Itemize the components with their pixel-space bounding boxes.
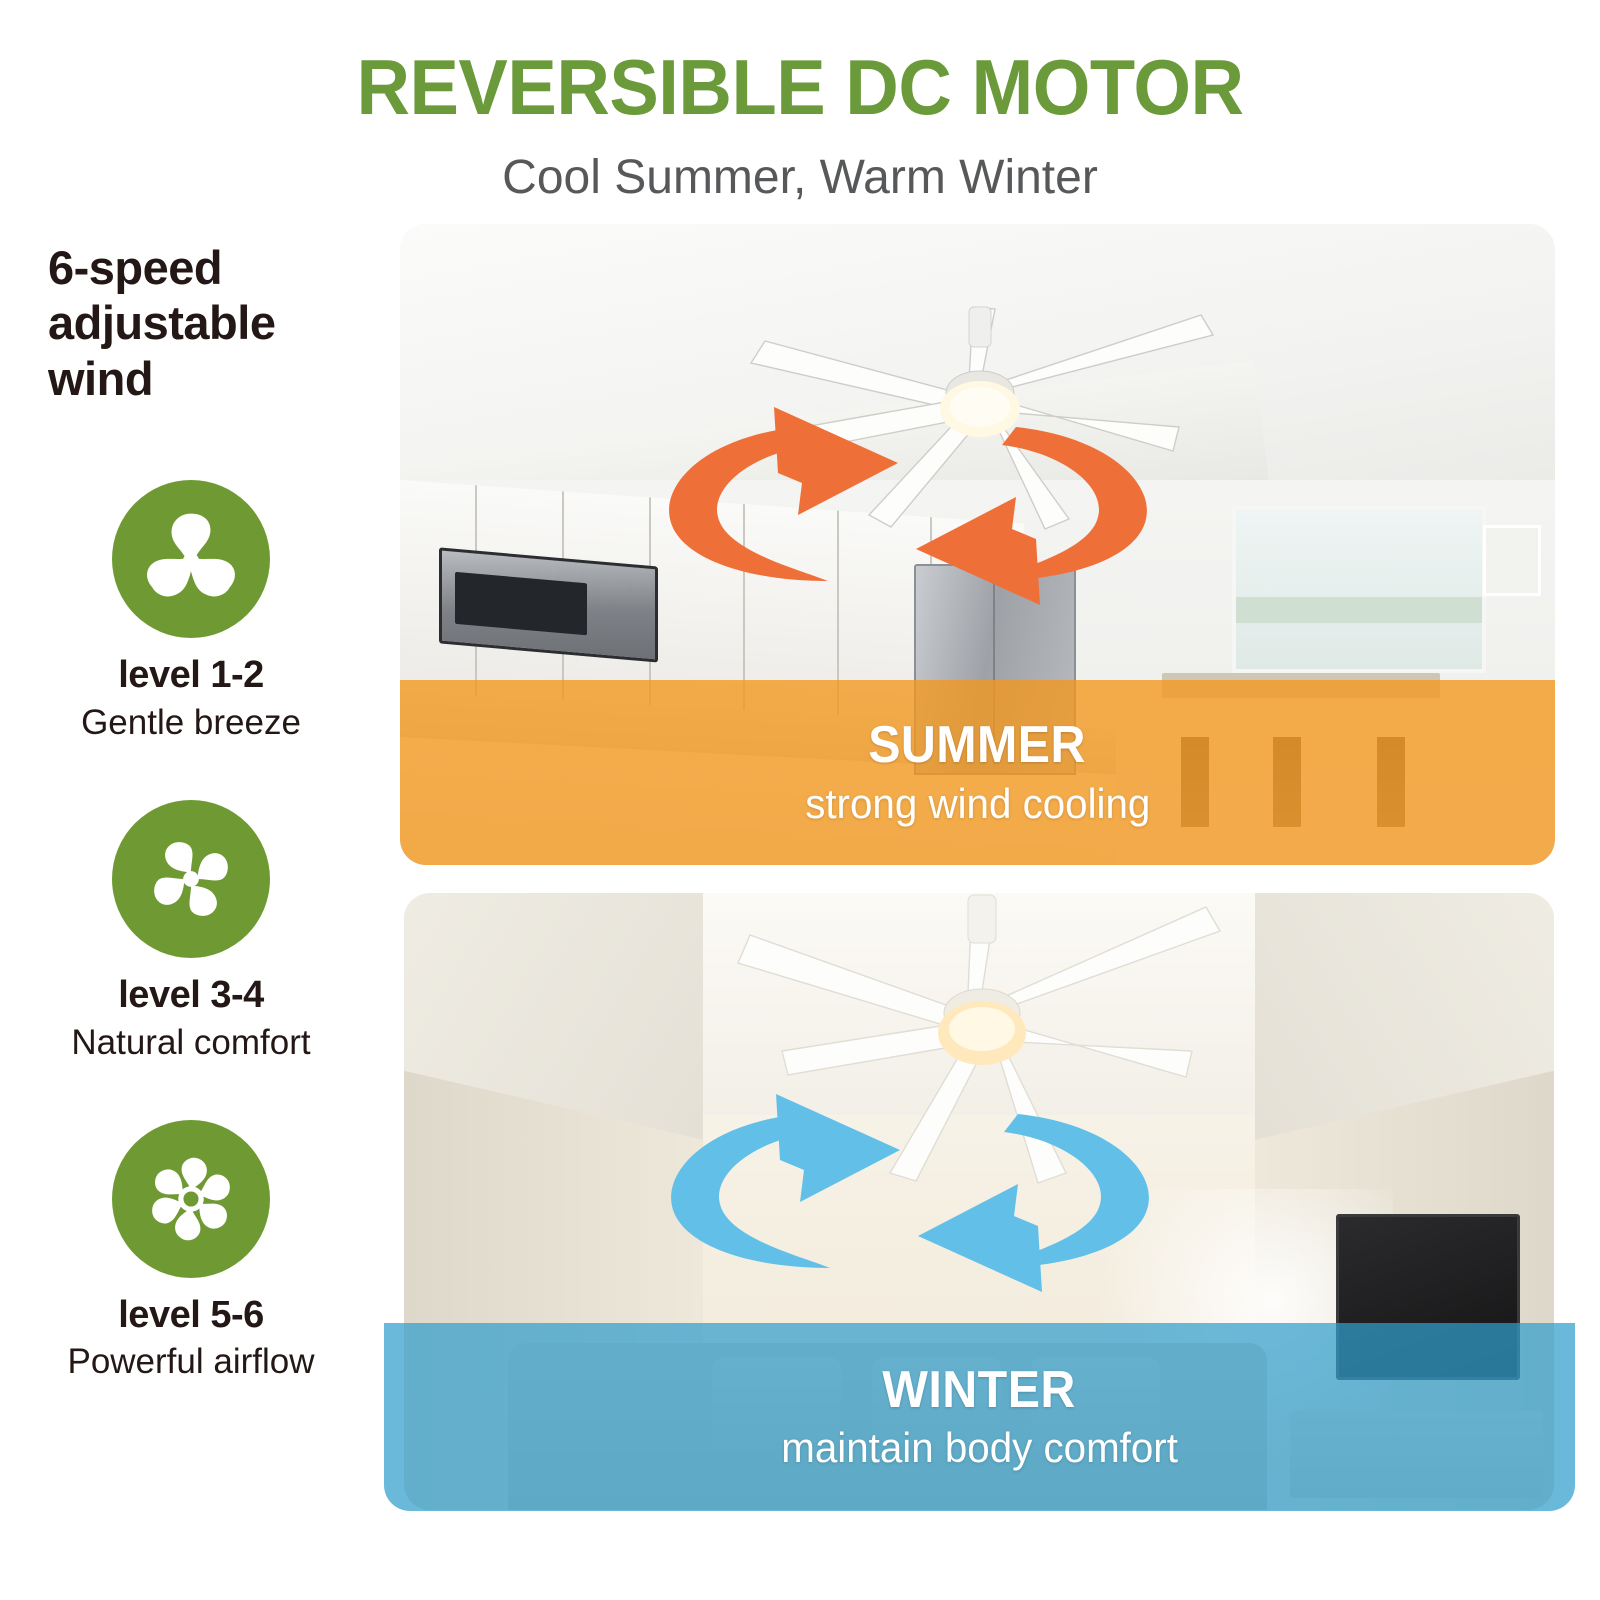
level-title: level 3-4: [0, 974, 382, 1018]
speed-level-list: level 1-2 Gentle breeze: [0, 480, 382, 1383]
rotation-swirl-arrow-icon: [648, 391, 1168, 621]
list-item: level 5-6 Powerful airflow: [0, 1120, 382, 1384]
banner-subtitle: maintain body comfort: [781, 1425, 1178, 1471]
speed-panel-heading: 6-speed adjustable wind: [0, 240, 382, 406]
level-description: Powerful airflow: [0, 1341, 382, 1383]
page-title: REVERSIBLE DC MOTOR: [40, 48, 1560, 126]
winter-banner: WINTER maintain body comfort: [384, 1323, 1575, 1511]
fan-4-blade-icon: [112, 800, 270, 958]
level-title: level 1-2: [0, 654, 382, 698]
banner-title: SUMMER: [869, 718, 1087, 773]
fan-3-blade-icon: [112, 480, 270, 638]
summer-banner: SUMMER strong wind cooling: [400, 680, 1555, 865]
header: REVERSIBLE DC MOTOR Cool Summer, Warm Wi…: [0, 0, 1600, 202]
level-title: level 5-6: [0, 1294, 382, 1338]
banner-title: WINTER: [883, 1363, 1077, 1418]
level-description: Gentle breeze: [0, 702, 382, 744]
banner-subtitle: strong wind cooling: [805, 781, 1150, 827]
infographic-page: REVERSIBLE DC MOTOR Cool Summer, Warm Wi…: [0, 0, 1600, 1600]
fan-6-blade-icon: [112, 1120, 270, 1278]
page-subtitle: Cool Summer, Warm Winter: [0, 154, 1600, 202]
summer-photo-card: SUMMER strong wind cooling: [400, 224, 1555, 865]
list-item: level 3-4 Natural comfort: [0, 800, 382, 1064]
rotation-swirl-arrow-icon: [650, 1078, 1170, 1308]
speed-levels-panel: 6-speed adjustable wind level 1-2 Gen: [0, 240, 382, 1439]
level-description: Natural comfort: [0, 1022, 382, 1064]
list-item: level 1-2 Gentle breeze: [0, 480, 382, 744]
